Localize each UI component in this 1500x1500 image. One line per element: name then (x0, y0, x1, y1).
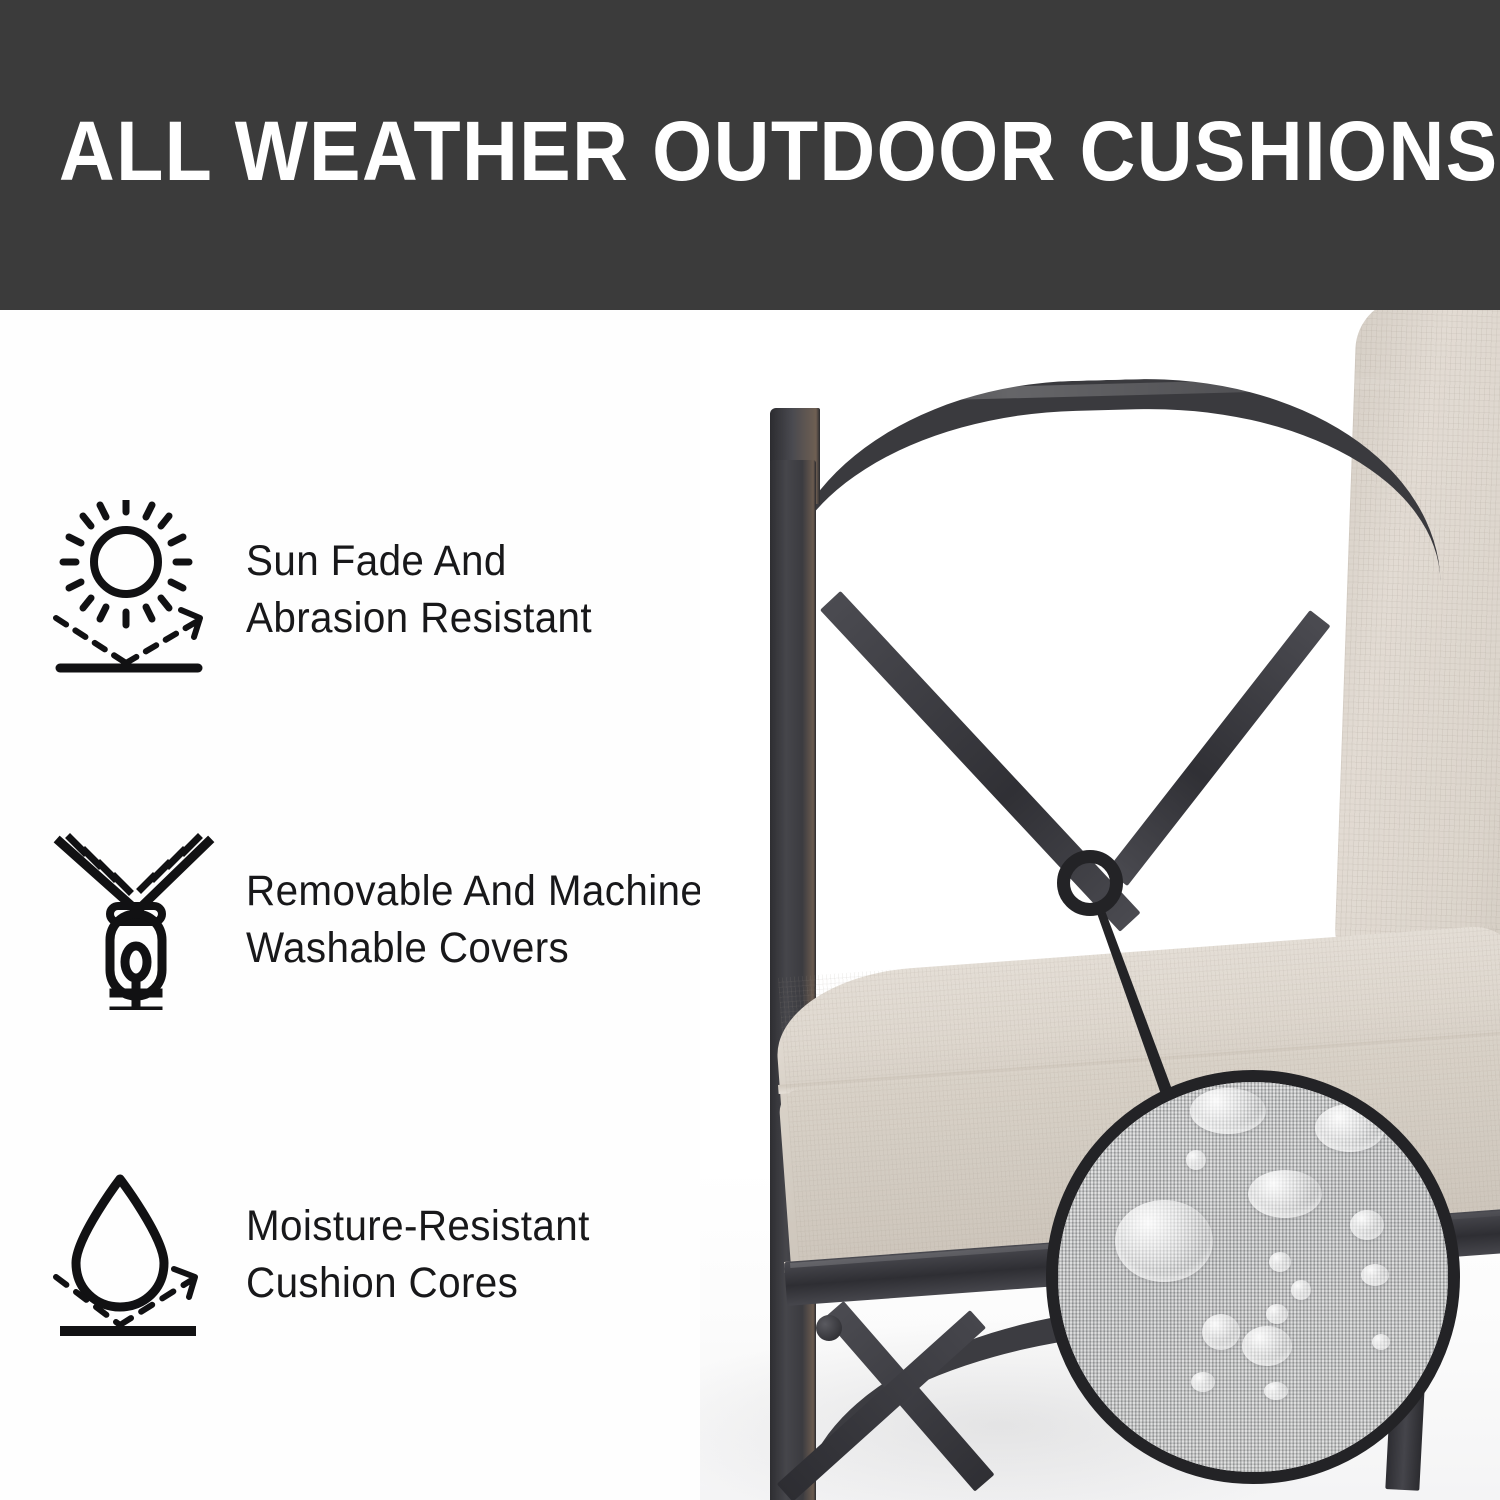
water-bead (1350, 1210, 1384, 1240)
feature-item-sun-fade: Sun Fade And Abrasion Resistant (0, 500, 660, 680)
water-bead (1242, 1326, 1292, 1366)
feature-line-1: Sun Fade And (246, 533, 592, 590)
back-pillow-texture (1333, 310, 1500, 1003)
page-title: ALL WEATHER OUTDOOR CUSHIONS (0, 109, 1499, 193)
water-bead (1269, 1252, 1291, 1272)
feature-line-2: Cushion Cores (246, 1255, 590, 1312)
feature-list: Sun Fade And Abrasion Resistant (0, 310, 700, 1500)
water-bead (1186, 1150, 1206, 1170)
feature-item-moisture: Moisture-Resistant Cushion Cores (0, 1165, 660, 1345)
feature-line-2: Washable Covers (246, 920, 703, 977)
feature-item-washable: Removable And Machine Washable Covers (0, 830, 660, 1010)
feature-label-moisture: Moisture-Resistant Cushion Cores (246, 1198, 590, 1312)
water-bead (1190, 1088, 1266, 1134)
feature-label-sun-fade: Sun Fade And Abrasion Resistant (246, 533, 592, 647)
feature-line-1: Removable And Machine (246, 863, 703, 920)
callout-pointer-ring (1057, 850, 1123, 916)
fabric-weave-texture (1058, 1082, 1448, 1472)
magnified-detail-callout (1046, 1070, 1460, 1484)
feature-line-2: Abrasion Resistant (246, 590, 592, 647)
infographic-canvas: ALL WEATHER OUTDOOR CUSHIONS (0, 0, 1500, 1500)
water-droplet-icon (48, 1165, 228, 1345)
water-bead (1191, 1372, 1215, 1392)
water-bead (1264, 1382, 1288, 1400)
water-bead (1315, 1104, 1385, 1152)
water-bead (1291, 1280, 1311, 1300)
water-bead (1202, 1314, 1240, 1350)
water-bead (1372, 1334, 1390, 1350)
feature-line-1: Moisture-Resistant (246, 1198, 590, 1255)
water-bead (1115, 1200, 1213, 1282)
water-bead (1361, 1264, 1389, 1286)
sun-fade-icon (48, 500, 228, 680)
header-bar: ALL WEATHER OUTDOOR CUSHIONS (0, 0, 1500, 310)
frame-bolt (816, 1315, 842, 1341)
feature-label-washable: Removable And Machine Washable Covers (246, 863, 703, 977)
water-bead (1248, 1170, 1322, 1218)
water-bead (1266, 1304, 1288, 1324)
zipper-icon (48, 830, 228, 1010)
